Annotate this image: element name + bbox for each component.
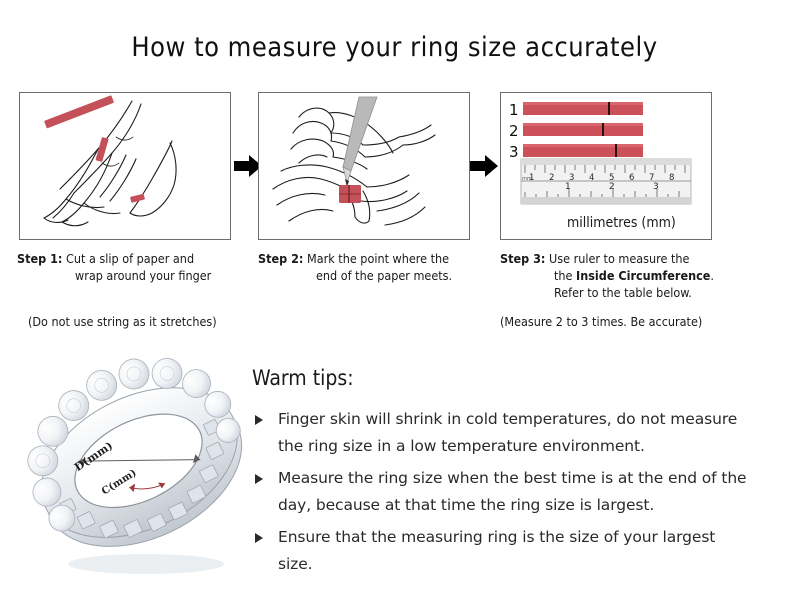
paper-strip-row-1: [523, 102, 643, 115]
bullet-triangle-icon: [255, 415, 263, 425]
bullet-triangle-icon: [255, 533, 263, 543]
step-3-note: (Measure 2 to 3 times. Be accurate): [500, 314, 702, 329]
strips-and-ruler-drawing: 1 2 3: [501, 93, 711, 239]
hand-with-paper-strip-drawing: [20, 93, 230, 239]
strip-number-1: 1: [509, 101, 519, 119]
steps-row: 1 2 3: [0, 92, 789, 242]
step-1-note: (Do not use string as it stretches): [28, 314, 217, 329]
ruler-inch-label-2: 2: [609, 182, 615, 192]
arrow-step2-to-step3: [470, 154, 498, 178]
paper-strip-shapes: [44, 95, 145, 203]
tip-text: Finger skin will shrink in cold temperat…: [278, 410, 737, 455]
step-2-caption: Step 2: Mark the point where the end of …: [258, 250, 486, 284]
ruler-inch-label-1: 1: [565, 182, 571, 192]
tip-item: Finger skin will shrink in cold temperat…: [252, 406, 752, 460]
pen-shape: [343, 97, 377, 187]
hand-marking-paper-drawing: [259, 93, 469, 239]
page-title: How to measure your ring size accurately: [0, 32, 789, 63]
step-3-lead: Step 3:: [500, 251, 545, 266]
paper-band-on-finger: [339, 185, 361, 203]
ruler-caption-text: millimetres (mm): [567, 215, 676, 231]
tip-item: Measure the ring size when the best time…: [252, 465, 752, 519]
step-3-line-1: Use ruler to measure the: [549, 251, 689, 266]
step-2-line-2: end of the paper meets.: [258, 267, 486, 284]
ruler-cm-label-8: 8: [669, 173, 674, 183]
tip-text: Ensure that the measuring ring is the si…: [278, 528, 715, 573]
step-1-line-2: wrap around your finger: [17, 267, 249, 284]
diamond-eternity-ring-drawing: [26, 352, 258, 588]
ruler-cm-label-2: 2: [549, 173, 554, 183]
tip-text: Measure the ring size when the best time…: [278, 469, 746, 514]
step-2-line-1: Mark the point where the: [307, 251, 449, 266]
step-1-illustration-panel: [19, 92, 231, 240]
ruler-cm-label-6: 6: [629, 173, 634, 183]
strip-number-3: 3: [509, 143, 519, 161]
step-3-measure-panel: 1 2 3: [500, 92, 712, 240]
ring-illustration: [26, 352, 258, 588]
ruler-unit-label: mm: [522, 176, 532, 182]
ruler-inch-label-3: 3: [653, 182, 659, 192]
ruler-shape: 1 2 3 4 5 6 7 8 mm: [521, 159, 691, 204]
step-1-lead: Step 1:: [17, 251, 62, 266]
step-1-line-1: Cut a slip of paper and: [66, 251, 194, 266]
strip-number-2: 2: [509, 122, 519, 140]
step-3-line-3: Refer to the table below.: [500, 284, 750, 301]
step-3-caption: Step 3: Use ruler to measure the the Ins…: [500, 250, 750, 301]
tip-item: Ensure that the measuring ring is the si…: [252, 524, 752, 578]
ruler-cm-label-4: 4: [589, 173, 594, 183]
paper-strip-row-3: [523, 144, 643, 157]
step-3-inside-circumference: Inside Circumference: [576, 268, 710, 283]
warm-tips-heading: Warm tips:: [252, 366, 752, 390]
step-1-caption: Step 1: Cut a slip of paper and wrap aro…: [17, 250, 249, 284]
step-2-lead: Step 2:: [258, 251, 303, 266]
step-3-line-2-post: .: [710, 268, 714, 283]
step-3-line-2-pre: the: [554, 268, 576, 283]
bullet-triangle-icon: [255, 474, 263, 484]
step-2-illustration-panel: [258, 92, 470, 240]
paper-strip-row-2: [523, 123, 643, 136]
warm-tips-section: Warm tips: Finger skin will shrink in co…: [252, 366, 752, 583]
